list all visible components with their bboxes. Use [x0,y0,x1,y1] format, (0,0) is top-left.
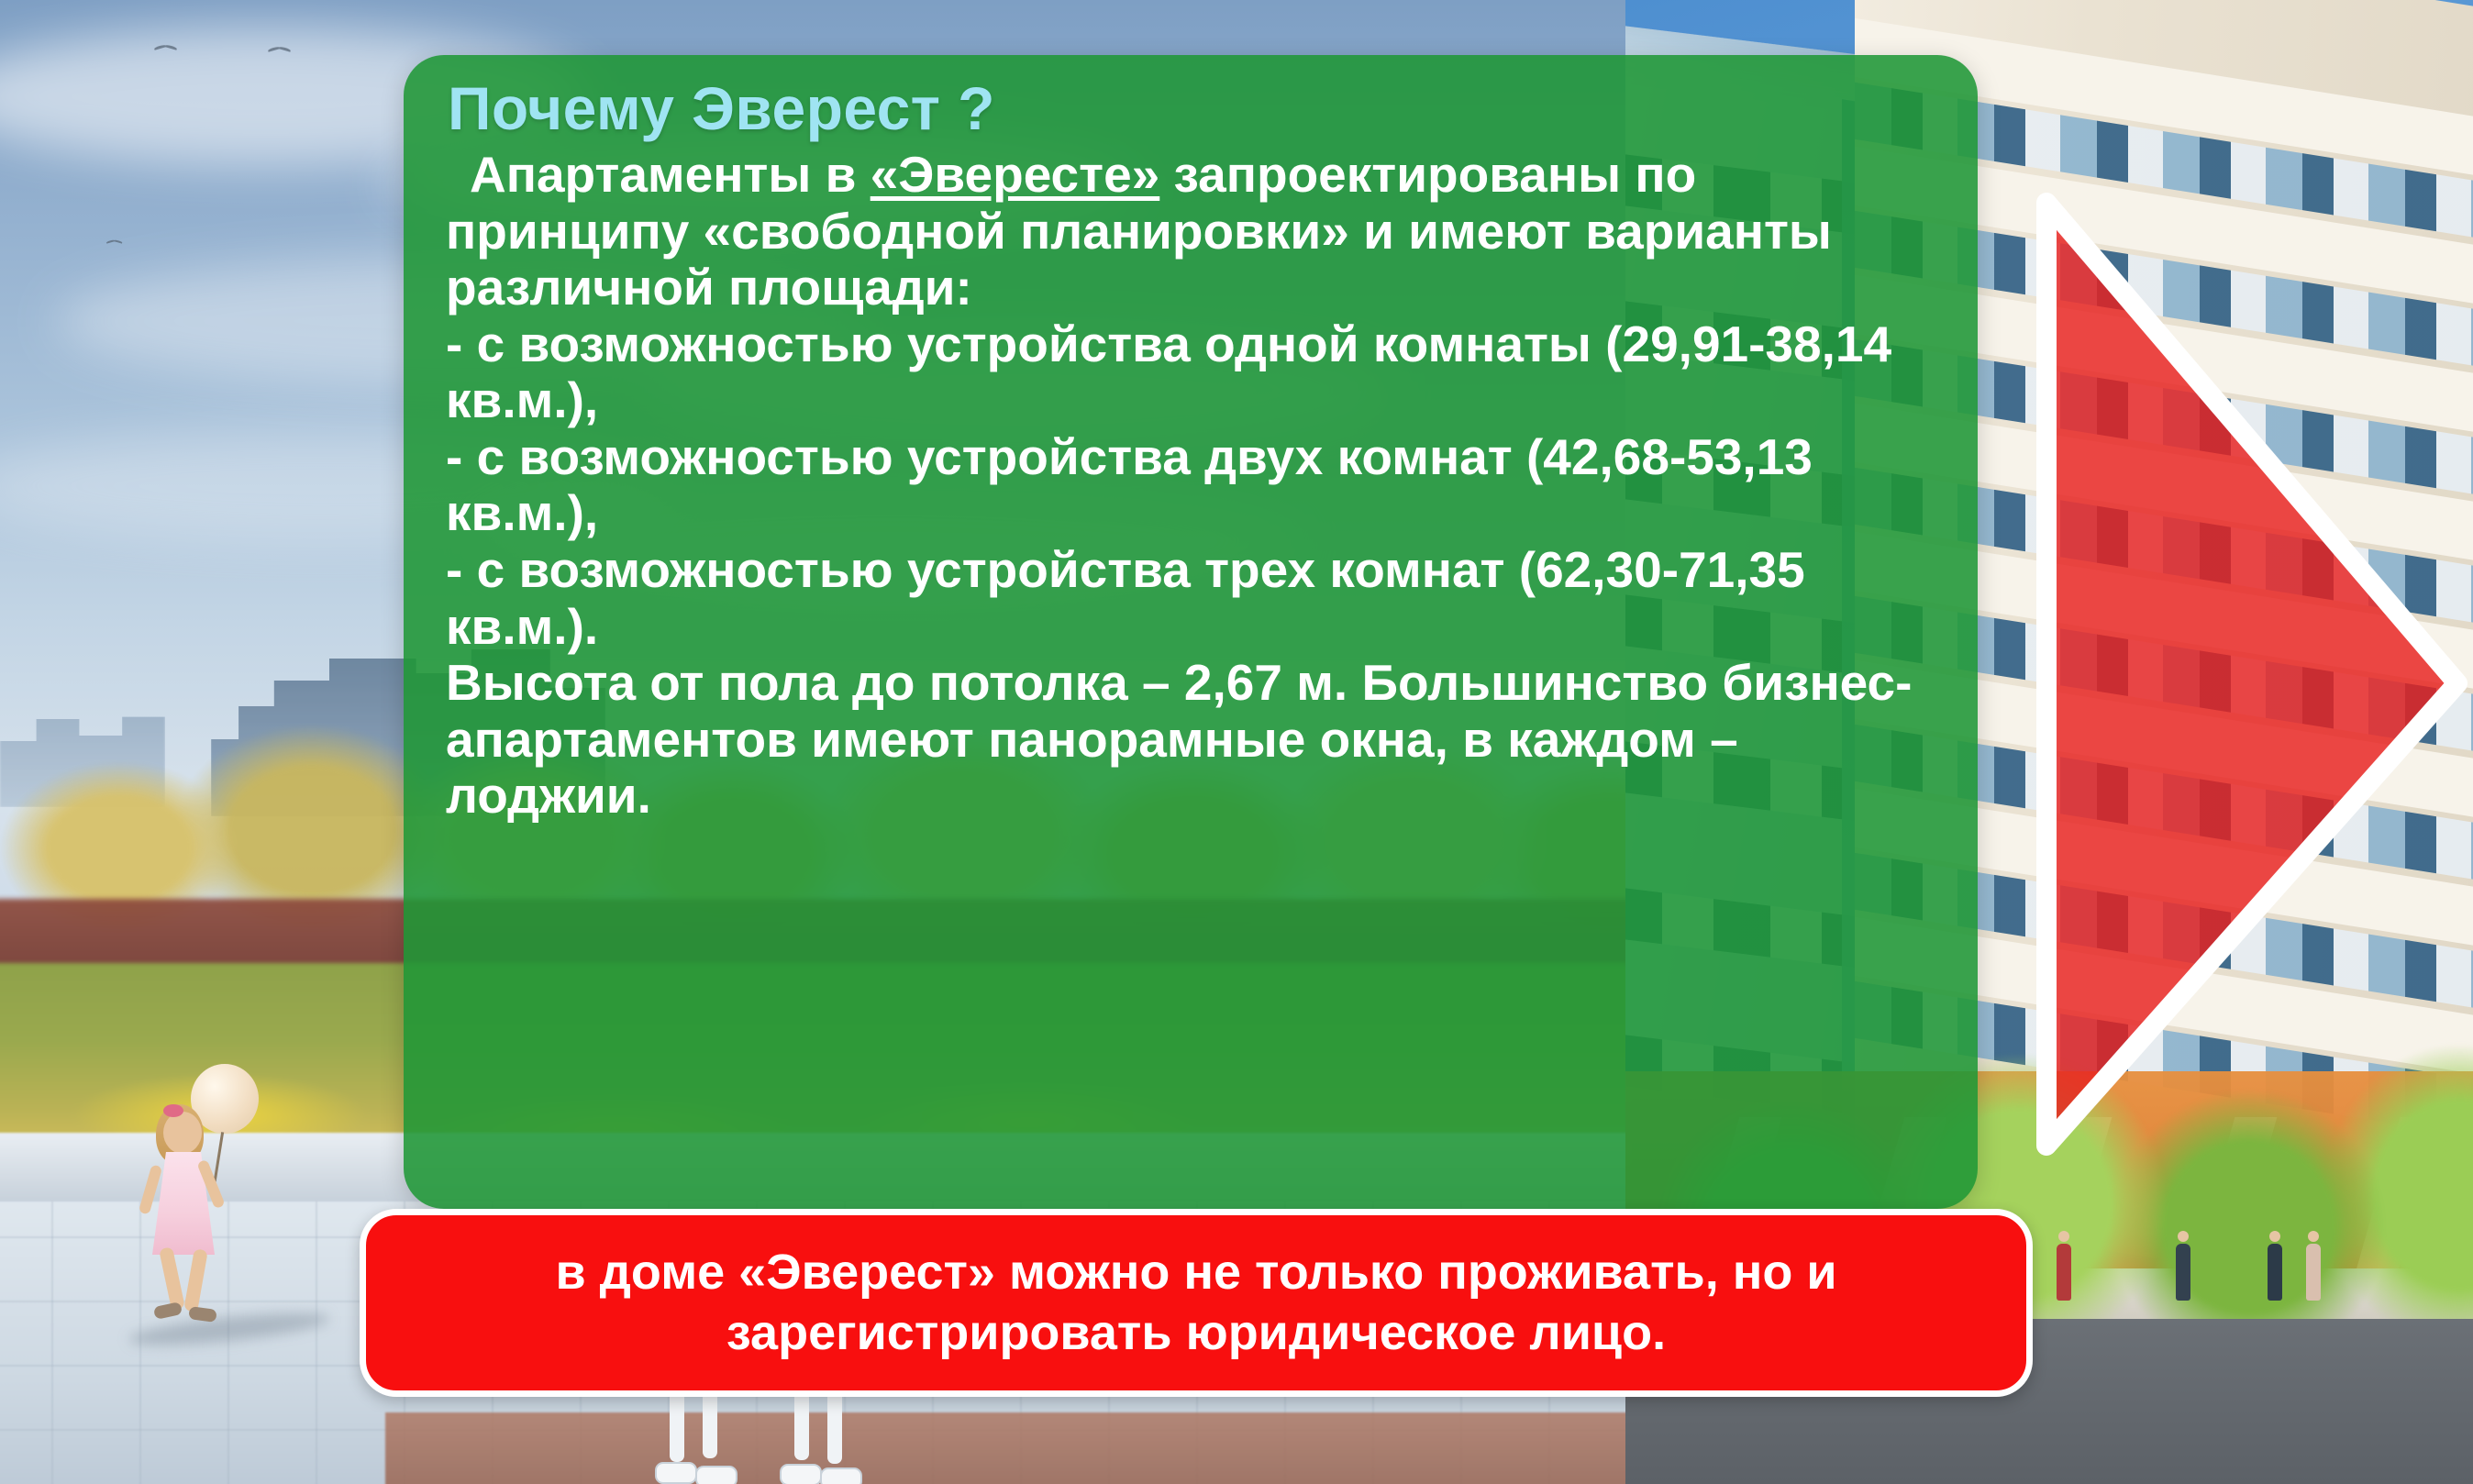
red-paving-strip [385,1412,1625,1484]
girl-shoe [153,1301,183,1320]
option-three-rooms: - с возможностью устройства трех комнат … [446,542,1935,655]
pedestrian [2306,1244,2321,1301]
option-two-rooms: - с возможностью устройства двух комнат … [446,429,1935,542]
pedestrian [2176,1244,2190,1301]
hair-bow [163,1104,183,1117]
girl-shoe [188,1306,217,1323]
arrow-triangle-shape [2046,203,2457,1146]
red-right-arrow [2032,188,2472,1160]
ceiling-paragraph: Высота от пола до потолка – 2,67 м. Боль… [446,655,1935,825]
intro-text-a: Апартаменты в [470,146,871,203]
pedestrian [2268,1244,2282,1301]
girl-leg [159,1246,185,1311]
bird-icon [268,44,292,53]
card-body-text: Апартаменты в «Эвересте» запроектированы… [446,147,1935,825]
everest-underlined: «Эвересте» [871,146,1160,203]
girl-head [163,1112,202,1154]
callout-banner: в доме «Эверест» можно не только прожива… [360,1209,2033,1397]
slide-canvas: Почему Эверест ? Апартаменты в «Эвересте… [0,0,2473,1484]
callout-banner-text: в доме «Эверест» можно не только прожива… [366,1243,2026,1364]
pedestrian [2057,1244,2071,1301]
bird-icon [154,42,178,51]
page-title: Почему Эверест ? [448,75,1935,143]
option-one-room: - с возможностью устройства одной комнат… [446,316,1935,429]
girl-with-balloon [138,1064,257,1339]
info-card: Почему Эверест ? Апартаменты в «Эвересте… [404,55,1978,1209]
bird-icon [106,238,123,245]
paragraph-intro: Апартаменты в «Эвересте» запроектированы… [446,147,1935,316]
girl-leg [183,1248,208,1312]
